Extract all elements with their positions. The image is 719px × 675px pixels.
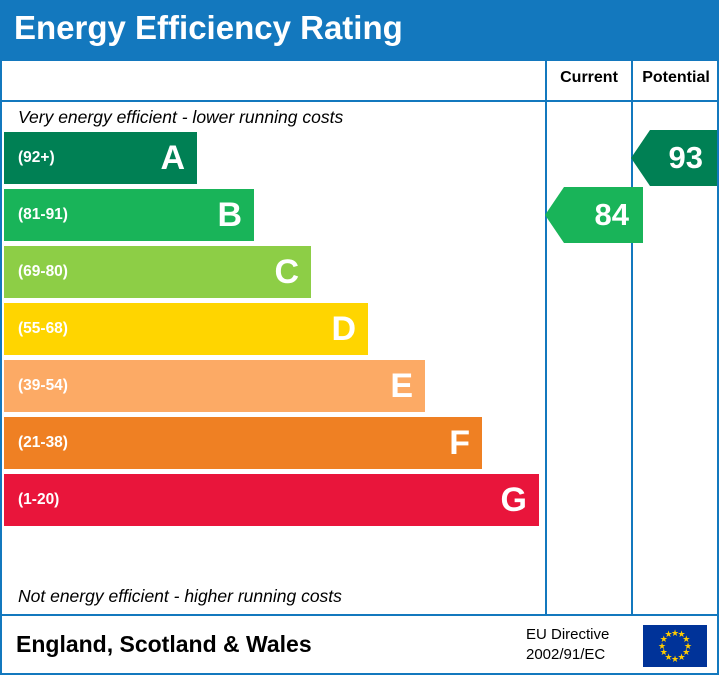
current-rating-pointer-tip [545, 187, 564, 243]
band-letter-g: G [501, 483, 527, 517]
band-range-d: (55-68) [18, 320, 68, 338]
potential-rating-pointer-value: 93 [669, 140, 703, 176]
column-header-current: Current [547, 69, 631, 87]
band-bar-a: (92+)A [4, 132, 197, 184]
column-divider-current [545, 61, 547, 614]
band-bar-f: (21-38)F [4, 417, 482, 469]
header-row-divider [2, 100, 717, 102]
footer-region-label: England, Scotland & Wales [16, 631, 312, 658]
band-range-b: (81-91) [18, 206, 68, 224]
chart-header: Energy Efficiency Rating [0, 0, 719, 61]
epc-certificate: Energy Efficiency Rating Current Potenti… [0, 0, 719, 675]
footer-directive-line2: 2002/91/EC [526, 645, 609, 665]
chart-footer: England, Scotland & Wales EU Directive 2… [0, 616, 719, 675]
band-letter-e: E [390, 369, 413, 403]
band-bar-b: (81-91)B [4, 189, 254, 241]
band-letter-d: D [331, 312, 356, 346]
band-letter-a: A [160, 141, 185, 175]
band-range-g: (1-20) [18, 491, 59, 509]
eu-flag-icon: ★★★★★★★★★★★★ [643, 625, 707, 667]
band-range-f: (21-38) [18, 434, 68, 452]
footer-directive-line1: EU Directive [526, 625, 609, 645]
current-rating-pointer-value: 84 [595, 197, 629, 233]
current-rating-pointer: 84 [564, 187, 643, 243]
band-bar-e: (39-54)E [4, 360, 425, 412]
band-letter-c: C [274, 255, 299, 289]
chart-body: Current Potential Very energy efficient … [0, 61, 719, 616]
footer-directive: EU Directive 2002/91/EC [526, 625, 609, 665]
eu-star-icon: ★ [664, 630, 673, 639]
band-range-a: (92+) [18, 149, 55, 167]
band-letter-b: B [217, 198, 242, 232]
band-range-e: (39-54) [18, 377, 68, 395]
caption-efficient: Very energy efficient - lower running co… [18, 107, 343, 128]
band-letter-f: F [449, 426, 470, 460]
band-bar-g: (1-20)G [4, 474, 539, 526]
column-header-potential: Potential [633, 69, 719, 87]
potential-rating-pointer: 93 [650, 130, 717, 186]
band-range-c: (69-80) [18, 263, 68, 281]
band-bar-c: (69-80)C [4, 246, 311, 298]
band-bar-d: (55-68)D [4, 303, 368, 355]
page-title: Energy Efficiency Rating [14, 9, 403, 47]
caption-inefficient: Not energy efficient - higher running co… [18, 586, 342, 607]
potential-rating-pointer-tip [631, 130, 650, 186]
